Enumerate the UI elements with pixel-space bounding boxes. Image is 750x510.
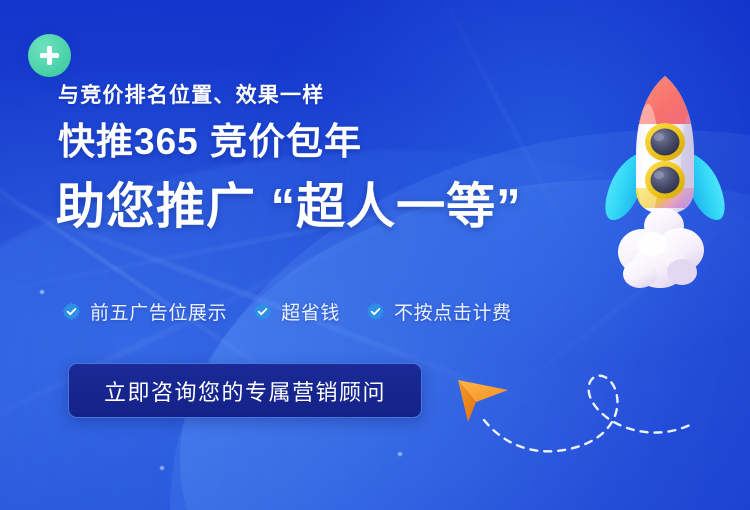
cursor-trail-group [440, 340, 700, 475]
rocket-porthole-glint [654, 133, 664, 141]
feature-label: 超省钱 [281, 298, 340, 325]
headline-emphasis: 助您推广 “超人一等” [56, 181, 618, 235]
rocket-icon [580, 62, 750, 292]
background-spark [398, 452, 402, 456]
rocket-smoke [618, 208, 704, 288]
plus-badge [28, 34, 71, 77]
rocket-fin-left [605, 154, 638, 220]
background-spark [160, 466, 164, 470]
feature-item: 不按点击计费 [366, 298, 512, 325]
check-badge-icon [62, 302, 81, 321]
check-badge-icon [253, 302, 272, 321]
arrow-cursor-icon [458, 380, 508, 422]
dashed-trail [484, 376, 692, 452]
copy-block: 与竞价排名位置、效果一样 快推365 竞价包年 助您推广 “超人一等” [58, 84, 618, 234]
background-spark [40, 290, 44, 294]
feature-item: 前五广告位展示 [62, 298, 227, 325]
consult-cta-button[interactable]: 立即咨询您的专属营销顾问 [68, 363, 422, 418]
feature-label: 不按点击计费 [394, 298, 512, 325]
check-badge-icon [366, 302, 385, 321]
rocket-porthole-glint [654, 171, 664, 179]
subheadline: 与竞价排名位置、效果一样 [58, 84, 618, 107]
rocket-fin-right [692, 154, 725, 220]
promo-banner: 与竞价排名位置、效果一样 快推365 竞价包年 助您推广 “超人一等” 前五广告… [0, 0, 750, 510]
rocket-highlight [637, 104, 659, 220]
rocket-porthole-glass-lower [651, 167, 680, 194]
feature-list: 前五广告位展示 超省钱 不按点击计费 [62, 298, 512, 325]
rocket-porthole-glass-upper [651, 129, 680, 156]
feature-label: 前五广告位展示 [90, 298, 227, 325]
consult-cta-label: 立即咨询您的专属营销顾问 [104, 375, 386, 407]
headline: 快推365 竞价包年 [58, 121, 618, 162]
plus-icon [47, 46, 52, 65]
feature-item: 超省钱 [253, 298, 340, 325]
